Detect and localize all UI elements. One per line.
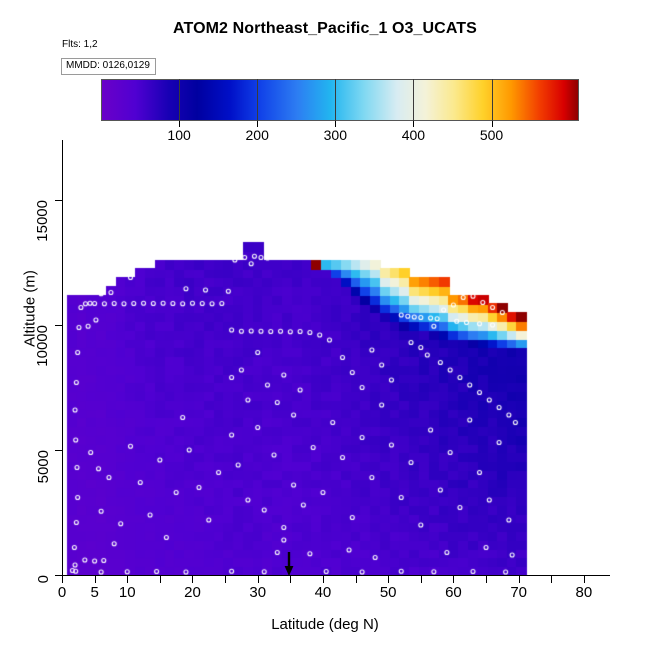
y-axis-label: Altitude (m): [22, 199, 39, 419]
x-axis-tick-label: 70: [510, 584, 527, 601]
flights-label: Flts: 1,2: [62, 39, 98, 50]
x-axis-tick: [192, 576, 193, 583]
x-axis-tick: [551, 576, 552, 583]
x-axis-tick: [453, 576, 454, 583]
x-axis-tick: [356, 576, 357, 583]
x-axis-tick: [388, 576, 389, 583]
x-axis-tick: [160, 576, 161, 583]
x-axis-tick-label: 10: [119, 584, 136, 601]
heatmap-panel: [62, 140, 610, 575]
page-title: ATOM2 Northeast_Pacific_1 O3_UCATS: [0, 20, 650, 38]
y-axis-tick: [55, 450, 62, 451]
x-axis-tick-label: 0: [58, 584, 66, 601]
x-axis-label: Latitude (deg N): [0, 616, 650, 633]
x-axis-tick-label: 40: [315, 584, 332, 601]
colorbar-dividers: [101, 79, 579, 121]
mmdd-badge: MMDD: 0126,0129: [61, 58, 156, 75]
y-axis-tick: [55, 575, 62, 576]
x-axis-tick-label: 30: [249, 584, 266, 601]
x-axis-tick-label: 80: [576, 584, 593, 601]
colorbar-divider: [413, 79, 414, 121]
x-axis-tick-label: 50: [380, 584, 397, 601]
latitude-marker-arrow-icon: [284, 552, 294, 576]
y-axis-tick-label: 5000: [35, 450, 52, 483]
x-axis-tick: [225, 576, 226, 583]
colorbar-divider: [257, 79, 258, 121]
colorbar-divider: [179, 79, 180, 121]
x-axis-tick: [62, 576, 63, 583]
x-axis-ticks: [62, 576, 610, 584]
x-axis-tick: [290, 576, 291, 583]
x-axis-tick-label: 5: [90, 584, 98, 601]
heatmap-canvas: [62, 140, 610, 575]
colorbar-divider: [335, 79, 336, 121]
y-axis-tick: [55, 325, 62, 326]
y-axis-tick: [55, 200, 62, 201]
x-axis-tick: [323, 576, 324, 583]
x-axis-tick: [519, 576, 520, 583]
x-axis-tick: [421, 576, 422, 583]
x-axis-tick-label: 60: [445, 584, 462, 601]
x-axis-tick: [486, 576, 487, 583]
colorbar: 100200300400500: [101, 79, 579, 121]
x-axis-tick-labels: 051020304050607080: [62, 584, 610, 604]
y-axis-ticks: [55, 140, 63, 576]
y-axis-tick-label: 0: [35, 575, 52, 583]
x-axis-tick-label: 20: [184, 584, 201, 601]
x-axis-tick: [258, 576, 259, 583]
ozone-curtain-plot: ATOM2 Northeast_Pacific_1 O3_UCATS Flts:…: [0, 0, 650, 650]
x-axis-tick: [584, 576, 585, 583]
x-axis-tick: [127, 576, 128, 583]
colorbar-divider: [492, 79, 493, 121]
x-axis-tick: [95, 576, 96, 583]
